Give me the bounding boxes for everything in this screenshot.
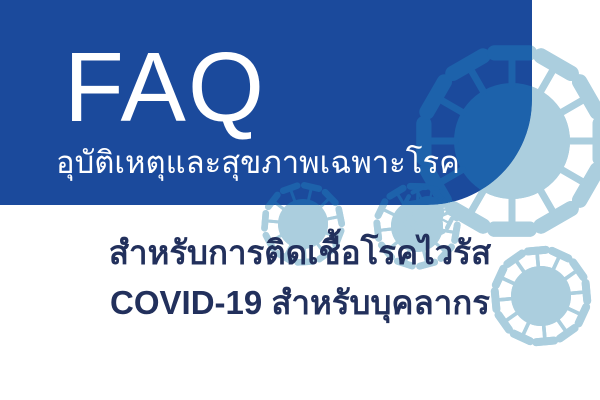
poster-canvas: FAQ อุบัติเหตุและสุขภาพเฉพาะโรค สำหรับกา… bbox=[0, 0, 600, 400]
page-subtitle: อุบัติเหตุและสุขภาพเฉพาะโรค bbox=[56, 146, 460, 180]
headline-block: FAQ อุบัติเหตุและสุขภาพเฉพาะโรค bbox=[0, 0, 532, 205]
page-title: FAQ bbox=[64, 38, 266, 136]
body-line-1: สำหรับการติดเชื้อโรคไวรัส bbox=[0, 228, 600, 278]
body-line-2: COVID-19 สำหรับบุคลากร bbox=[0, 278, 600, 328]
body-text-block: สำหรับการติดเชื้อโรคไวรัส COVID-19 สำหรั… bbox=[0, 228, 600, 327]
